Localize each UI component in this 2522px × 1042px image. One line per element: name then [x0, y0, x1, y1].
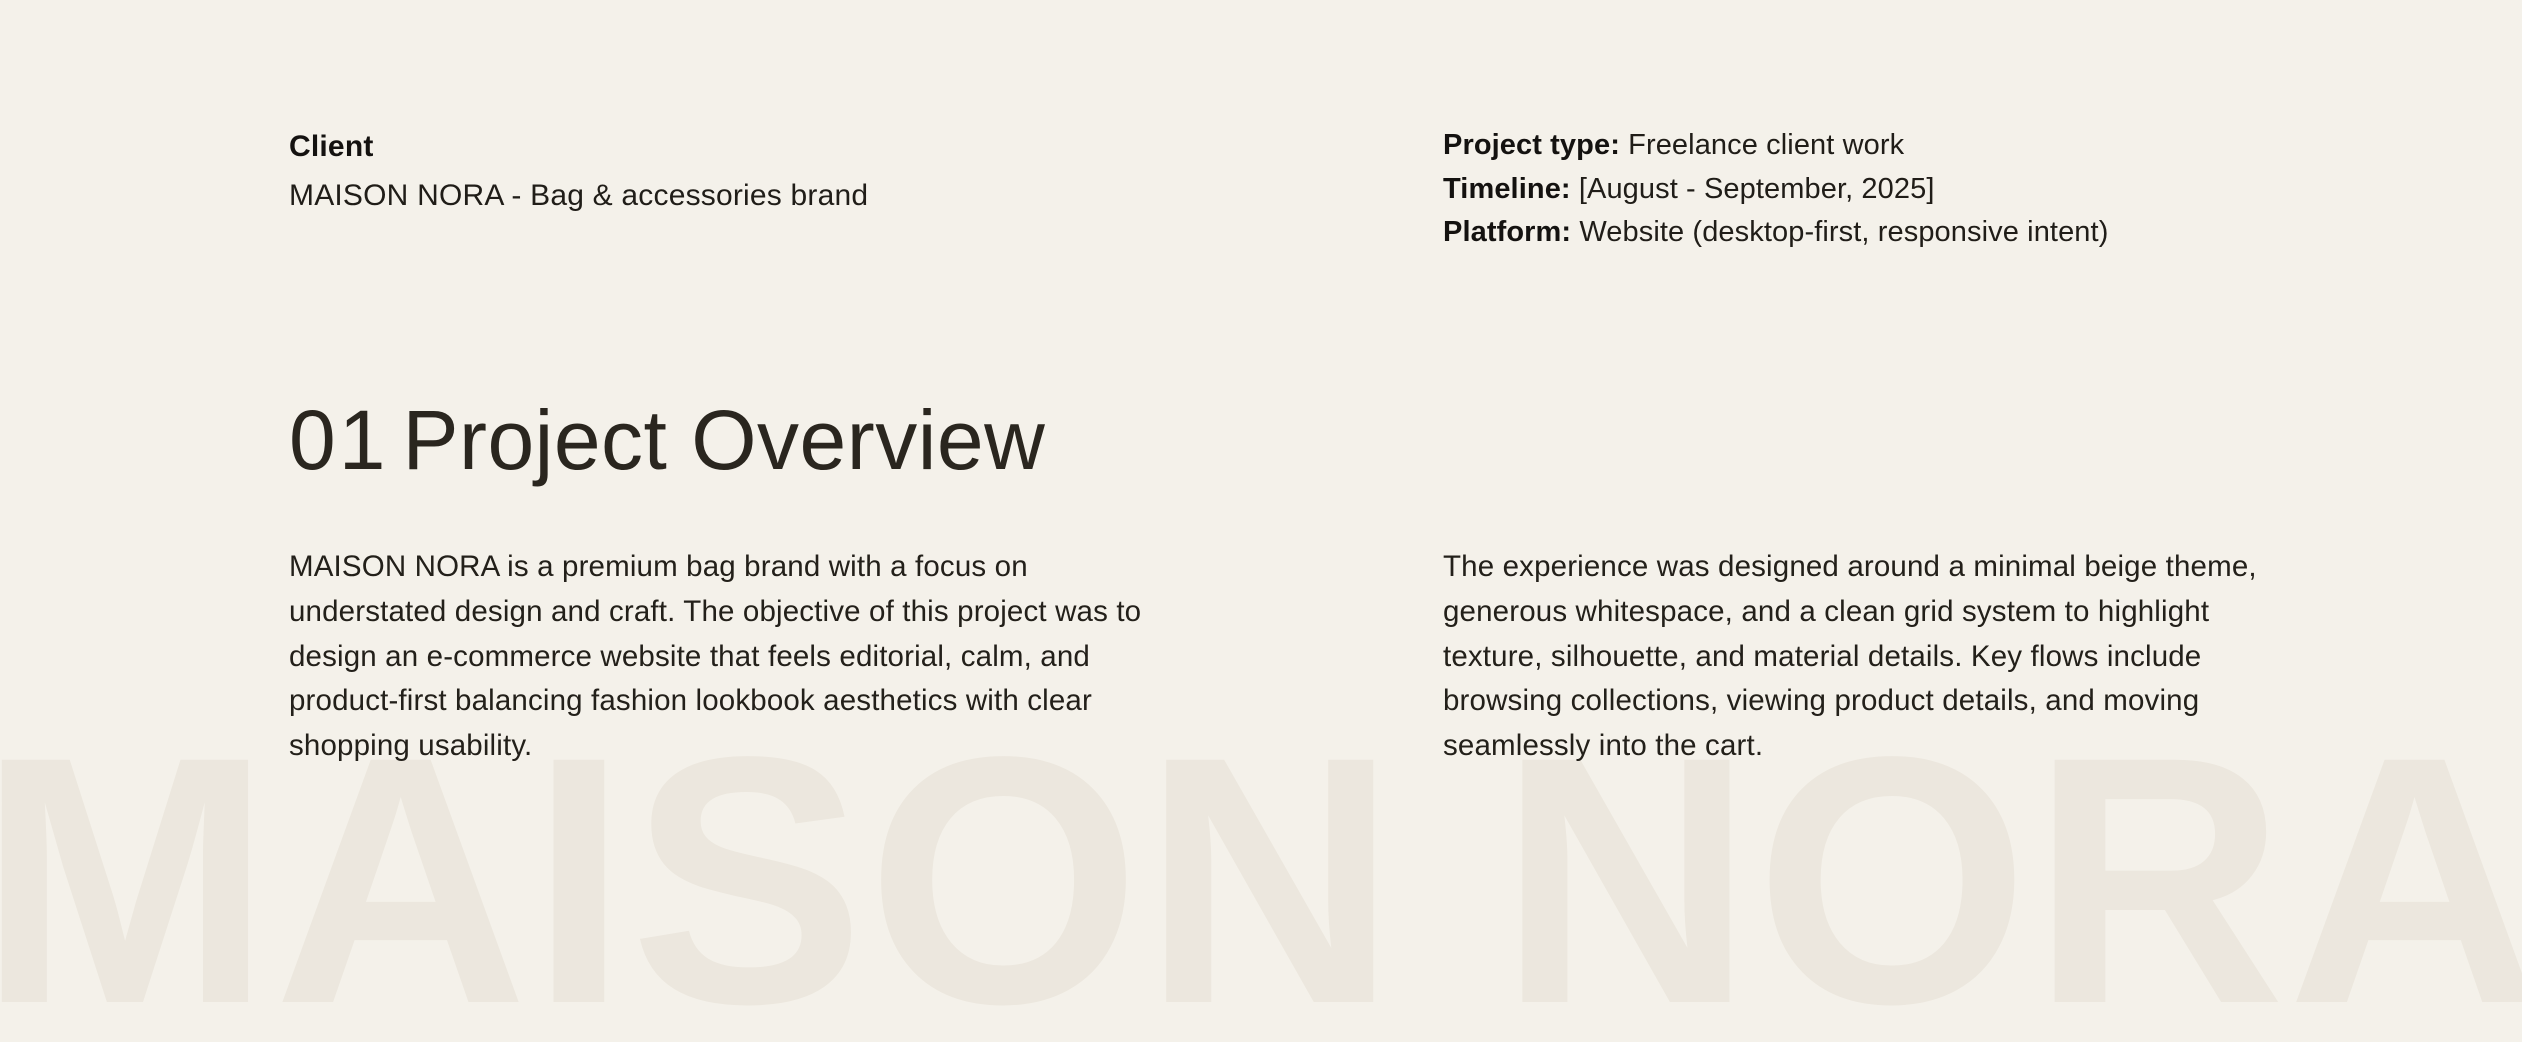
case-study-slide: Client MAISON NORA - Bag & accessories b… — [0, 0, 2522, 1042]
client-label: Client — [289, 128, 868, 166]
spec-label-project-type: Project type: — [1443, 129, 1628, 161]
section-title: Project Overview — [402, 393, 1045, 487]
overview-right-column: The experience was designed around a min… — [1443, 545, 2283, 769]
spec-value-timeline: [August - September, 2025] — [1579, 173, 1935, 205]
section-heading: 01Project Overview — [289, 398, 1045, 482]
spec-label-platform: Platform: — [1443, 216, 1579, 248]
overview-paragraph-left: MAISON NORA is a premium bag brand with … — [289, 545, 1169, 769]
overview-left-column: MAISON NORA is a premium bag brand with … — [289, 545, 1169, 769]
client-block: Client MAISON NORA - Bag & accessories b… — [289, 128, 868, 216]
project-spec-block: Project type: Freelance client work Time… — [1443, 124, 2108, 255]
spec-row-timeline: Timeline: [August - September, 2025] — [1443, 168, 2108, 212]
spec-row-project-type: Project type: Freelance client work — [1443, 124, 2108, 168]
section-number: 01 — [289, 393, 388, 487]
spec-value-project-type: Freelance client work — [1628, 129, 1904, 161]
overview-paragraph-right: The experience was designed around a min… — [1443, 545, 2283, 769]
client-name: MAISON NORA - Bag & accessories brand — [289, 177, 868, 215]
spec-label-timeline: Timeline: — [1443, 173, 1579, 205]
spec-row-platform: Platform: Website (desktop-first, respon… — [1443, 211, 2108, 255]
project-meta-row: Client MAISON NORA - Bag & accessories b… — [0, 128, 2522, 258]
spec-value-platform: Website (desktop-first, responsive inten… — [1579, 216, 2108, 248]
